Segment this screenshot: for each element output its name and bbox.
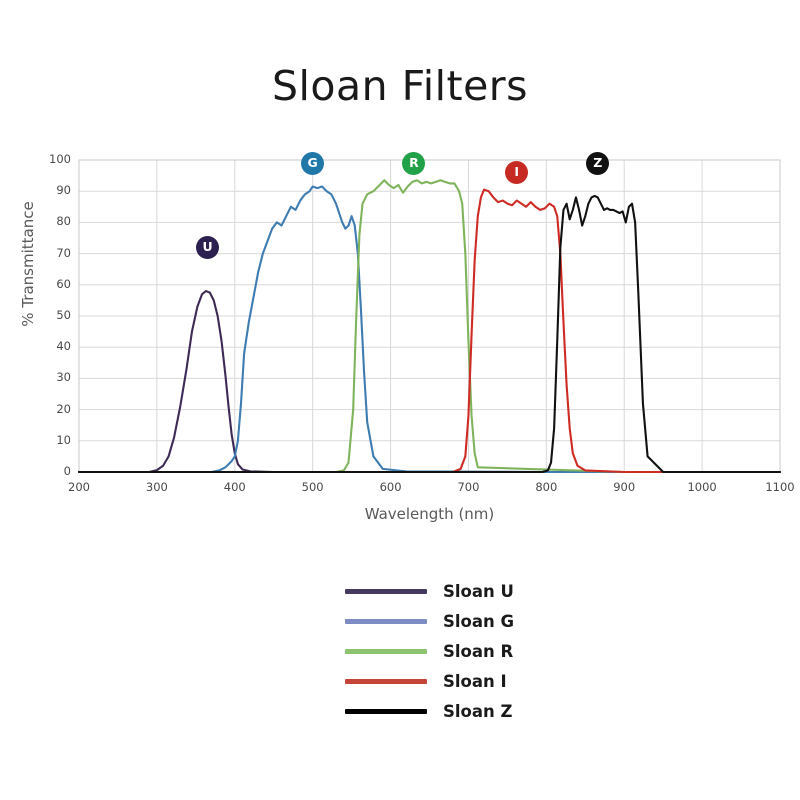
x-tick-label: 200 [49, 480, 109, 494]
legend-swatch [345, 679, 427, 684]
y-tick-label: 90 [27, 183, 71, 197]
series-badge-u: U [196, 236, 219, 259]
series-badge-g: G [301, 152, 324, 175]
legend-swatch [345, 619, 427, 624]
x-tick-label: 700 [438, 480, 498, 494]
x-tick-label: 300 [127, 480, 187, 494]
series-badge-z: Z [586, 152, 609, 175]
x-tick-label: 600 [361, 480, 421, 494]
series-line-sloan-g [79, 187, 780, 472]
legend-swatch [345, 709, 427, 714]
legend-label: Sloan G [443, 612, 514, 631]
legend-item[interactable]: Sloan G [345, 610, 514, 633]
legend-item[interactable]: Sloan U [345, 580, 514, 603]
y-tick-label: 20 [27, 402, 71, 416]
legend-item[interactable]: Sloan I [345, 670, 514, 693]
legend-swatch [345, 649, 427, 654]
series-line-sloan-r [79, 180, 780, 472]
chart-page: Sloan Filters % Transmittance Wavelength… [0, 0, 800, 800]
x-tick-label: 400 [205, 480, 265, 494]
legend-item[interactable]: Sloan R [345, 640, 514, 663]
y-tick-label: 70 [27, 246, 71, 260]
legend-label: Sloan Z [443, 702, 512, 721]
legend-swatch [345, 589, 427, 594]
y-tick-label: 80 [27, 214, 71, 228]
chart-legend: Sloan USloan GSloan RSloan ISloan Z [345, 580, 514, 723]
x-tick-label: 1100 [750, 480, 800, 494]
x-tick-label: 900 [594, 480, 654, 494]
series-line-sloan-u [79, 291, 780, 472]
y-tick-label: 30 [27, 370, 71, 384]
legend-label: Sloan R [443, 642, 513, 661]
y-tick-label: 60 [27, 277, 71, 291]
y-tick-label: 40 [27, 339, 71, 353]
x-tick-label: 500 [283, 480, 343, 494]
y-tick-label: 50 [27, 308, 71, 322]
series-line-sloan-i [79, 190, 780, 472]
series-line-sloan-z [79, 196, 780, 472]
series-lines [79, 180, 780, 472]
grid-lines [79, 160, 780, 472]
y-tick-label: 100 [27, 152, 71, 166]
x-axis-label: Wavelength (nm) [79, 505, 780, 523]
legend-label: Sloan I [443, 672, 507, 691]
y-tick-label: 0 [27, 464, 71, 478]
y-tick-label: 10 [27, 433, 71, 447]
series-badge-r: R [402, 152, 425, 175]
legend-label: Sloan U [443, 582, 514, 601]
x-tick-label: 800 [516, 480, 576, 494]
x-tick-label: 1000 [672, 480, 732, 494]
legend-item[interactable]: Sloan Z [345, 700, 514, 723]
